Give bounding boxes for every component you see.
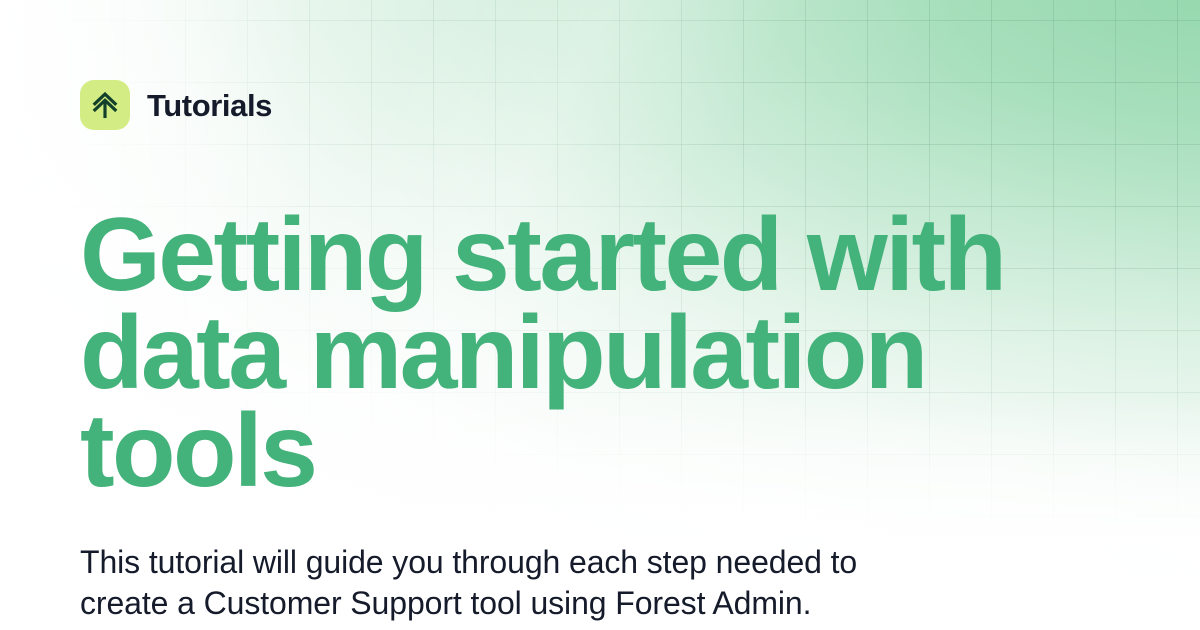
page-subtitle: This tutorial will guide you through eac… (80, 542, 870, 624)
page-subtitle-line-3: Forest Admin. (615, 585, 811, 621)
page-subtitle-line-1: This tutorial will guide you through eac… (80, 544, 707, 580)
page-title: Getting started with data manipulation t… (80, 206, 1110, 500)
og-card-canvas: Tutorials Getting started with data mani… (0, 0, 1200, 630)
category-label: Tutorials (147, 90, 272, 121)
forest-tree-arrow-icon (80, 80, 130, 130)
category-eyebrow: Tutorials (80, 80, 1200, 130)
card-content: Tutorials Getting started with data mani… (0, 0, 1200, 624)
